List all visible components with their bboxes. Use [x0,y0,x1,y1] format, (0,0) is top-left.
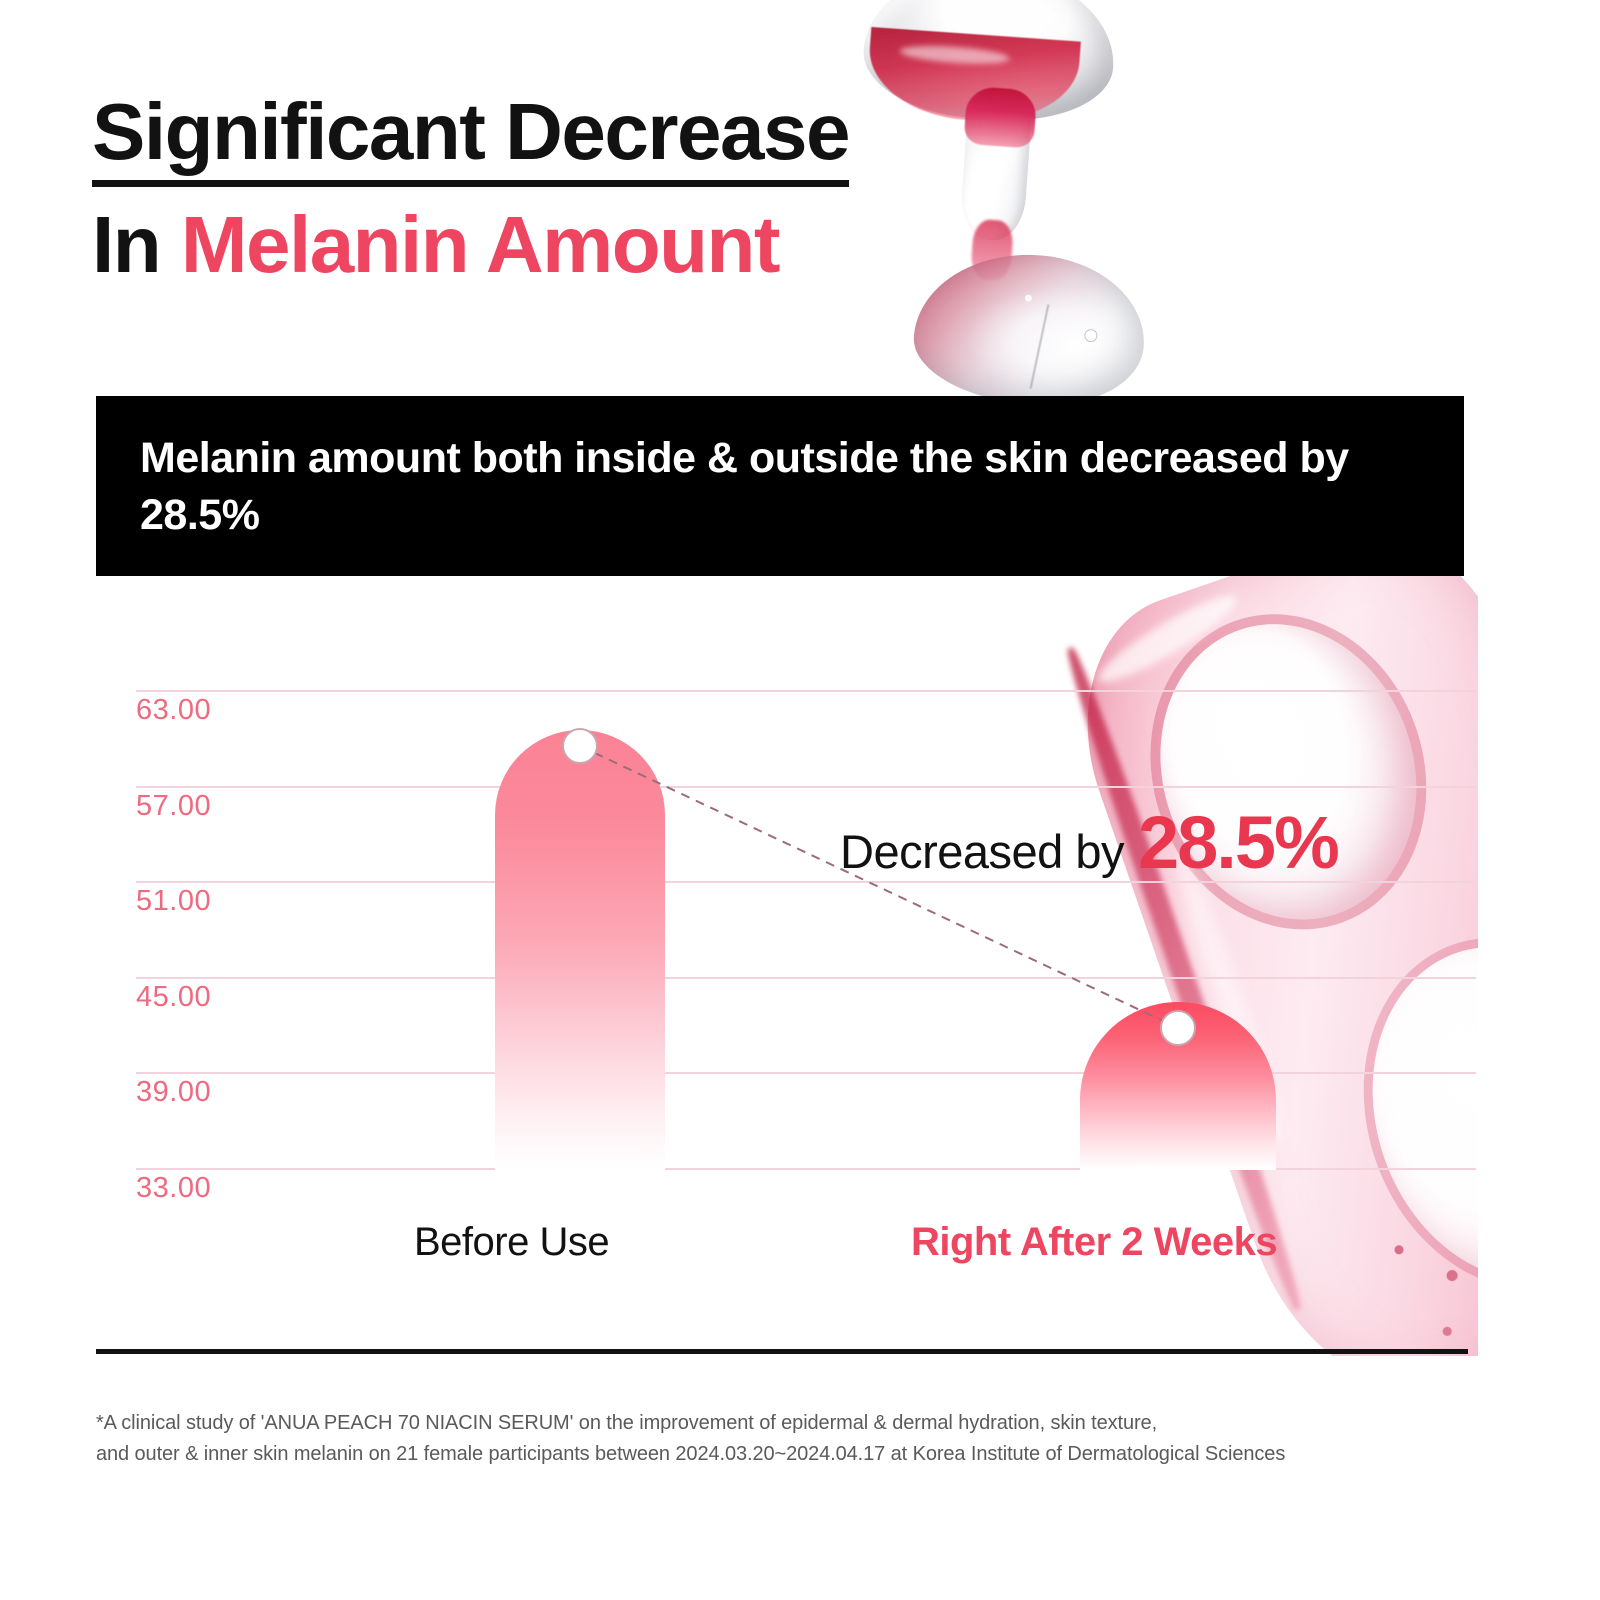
study-footnote-line-1: *A clinical study of 'ANUA PEACH 70 NIAC… [96,1408,1496,1439]
study-footnote-line-2: and outer & inner skin melanin on 21 fem… [96,1439,1496,1470]
xlabel-right-after-2-weeks: Right After 2 Weeks [911,1220,1277,1265]
right-edge-mask [1478,0,1600,1600]
gridline-57 [136,786,1476,788]
headline-line-1: Significant Decrease [92,92,849,187]
ytick-label-57: 57.00 [136,790,211,823]
bar-before-use [495,730,665,1170]
dropper-neck [959,88,1033,242]
gridline-63 [136,690,1476,692]
dropper-bulb [860,0,1120,128]
headline-line-2-prefix: In [92,200,181,289]
gridline-45 [136,977,1476,979]
study-footnote: *A clinical study of 'ANUA PEACH 70 NIAC… [96,1408,1496,1470]
bottom-edge-mask [0,1356,1600,1600]
data-point-marker-after-2-weeks [1160,1010,1196,1046]
highlight-banner: Melanin amount both inside & outside the… [96,396,1464,576]
serum-pool-highlight [1030,304,1050,389]
footer-divider [96,1349,1468,1354]
ytick-label-45: 45.00 [136,981,211,1014]
ytick-label-39: 39.00 [136,1076,211,1109]
dropper-bulb-serum [865,27,1080,127]
melanin-bar-chart: 63.00 57.00 51.00 45.00 39.00 33.00 Befo… [96,640,1466,1240]
serum-bubble-small [1025,294,1032,301]
plot-area: 63.00 57.00 51.00 45.00 39.00 33.00 [136,640,1466,1170]
highlight-banner-text: Melanin amount both inside & outside the… [140,430,1420,544]
serum-bubble-large [1084,329,1098,343]
ytick-label-33: 33.00 [136,1172,211,1205]
decrease-callout-value: 28.5% [1138,801,1338,884]
dropper-neck-serum [963,86,1037,149]
data-point-marker-before-use [562,728,598,764]
xlabel-before-use: Before Use [414,1220,609,1265]
decrease-callout: Decreased by28.5% [840,800,1338,885]
ytick-label-51: 51.00 [136,885,211,918]
serum-flow [970,219,1014,282]
headline-line-2: In Melanin Amount [92,203,849,287]
ytick-label-63: 63.00 [136,694,211,727]
dropper-photo [831,0,1160,400]
page-title: Significant Decrease In Melanin Amount [92,92,849,287]
headline-line-2-accent: Melanin Amount [181,200,779,289]
serum-pool [910,247,1150,413]
bar-before-use-fill [495,730,665,1170]
decrease-callout-lead: Decreased by [840,825,1124,878]
